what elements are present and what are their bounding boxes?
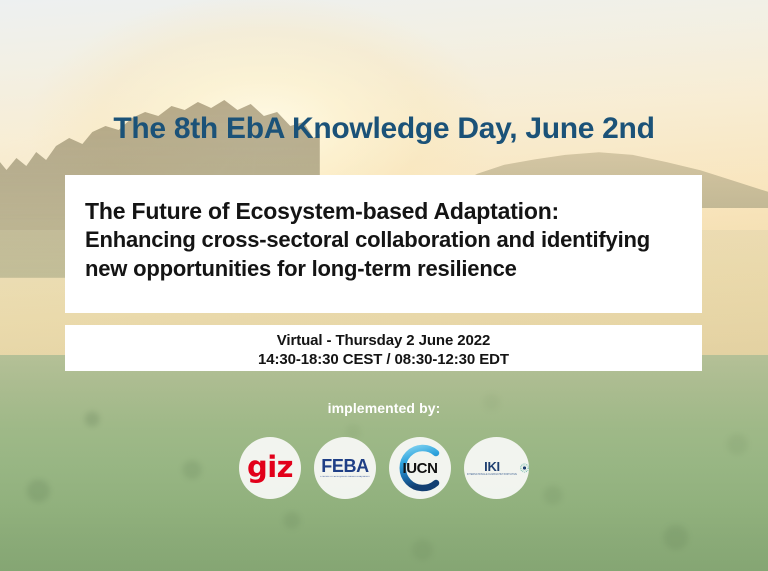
event-date: Virtual - Thursday 2 June 2022	[65, 331, 702, 350]
iki-logo: IKI INTERNATIONALE KLIMASCHUTZINITIATIVE	[464, 437, 529, 499]
iki-logo-wordmark: IKI INTERNATIONALE KLIMASCHUTZINITIATIVE	[467, 460, 517, 477]
poster-headline: The 8th EbA Knowledge Day, June 2nd	[0, 112, 768, 145]
implemented-by-label: implemented by:	[0, 400, 768, 416]
partner-logo-row: giz FEBA Friends of Ecosystem-based Adap…	[0, 436, 768, 500]
feba-logo-text: FEBA	[321, 457, 368, 475]
title-panel: The Future of Ecosystem-based Adaptation…	[65, 175, 702, 313]
event-time: 14:30-18:30 CEST / 08:30-12:30 EDT	[65, 350, 702, 369]
title-line-1: The Future of Ecosystem-based Adaptation…	[85, 197, 684, 226]
feba-logo-subtitle: Friends of Ecosystem-based Adaptation	[319, 476, 371, 479]
giz-logo-text: giz	[247, 453, 293, 484]
iki-globe-icon	[520, 455, 529, 481]
event-poster: The 8th EbA Knowledge Day, June 2nd The …	[0, 0, 768, 571]
giz-logo: giz	[239, 437, 301, 499]
feba-logo: FEBA Friends of Ecosystem-based Adaptati…	[314, 437, 376, 499]
iucn-logo: IUCN	[389, 437, 451, 499]
title-line-2: Enhancing cross-sectoral collaboration a…	[85, 226, 684, 254]
title-line-3: new opportunities for long-term resilien…	[85, 255, 684, 283]
iucn-logo-text: IUCN	[402, 460, 437, 477]
iki-logo-subtitle: INTERNATIONALE KLIMASCHUTZINITIATIVE	[467, 474, 517, 477]
iki-logo-text: IKI	[484, 460, 500, 473]
date-time-panel: Virtual - Thursday 2 June 2022 14:30-18:…	[65, 325, 702, 371]
